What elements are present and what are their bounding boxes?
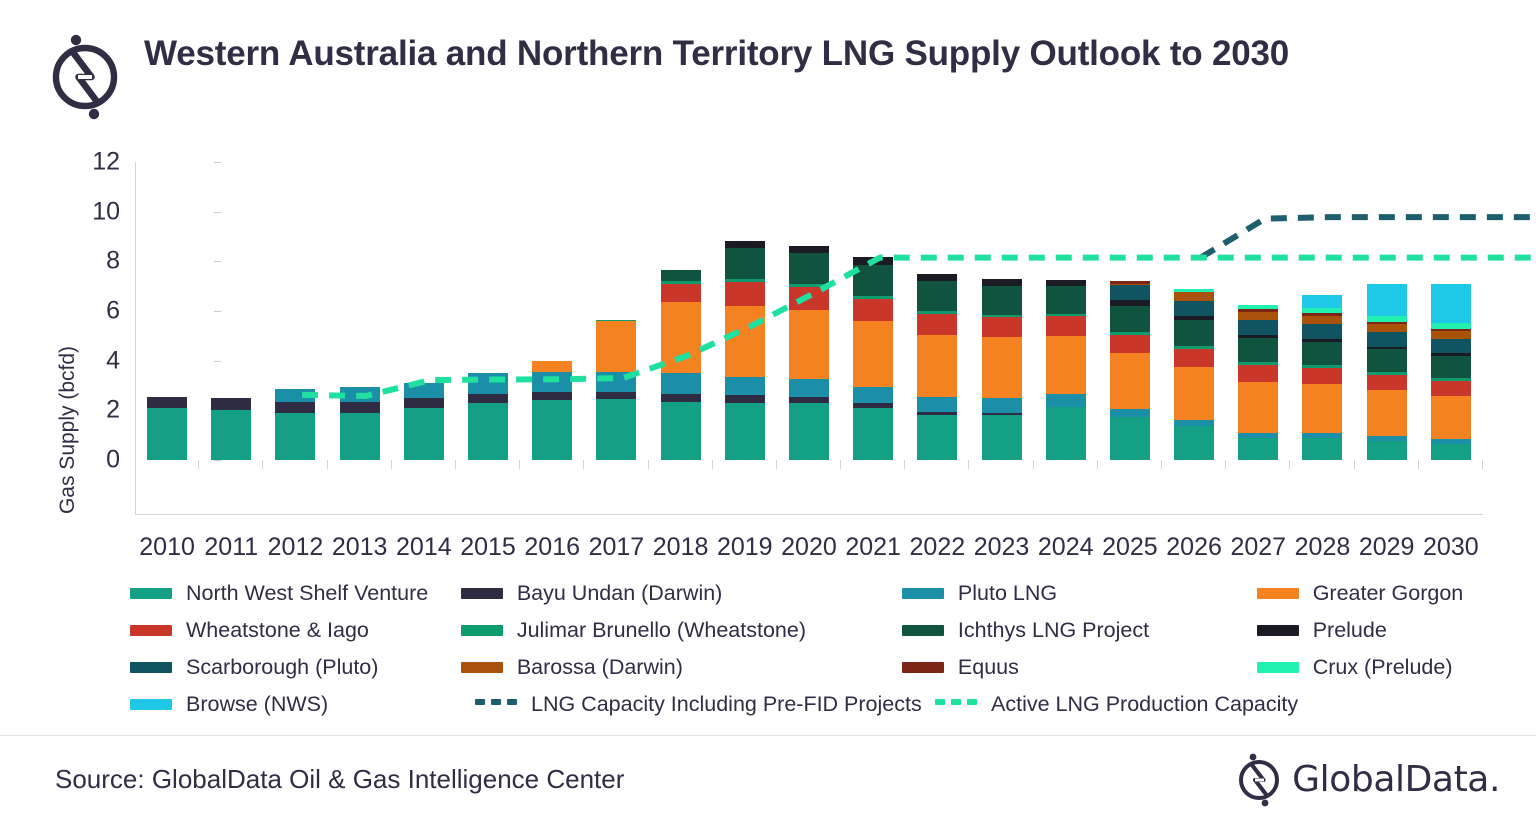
bar-segment[interactable]	[661, 402, 701, 460]
y-tick-label: 6	[106, 297, 120, 326]
bar-stack[interactable]	[532, 361, 572, 460]
bar-segment[interactable]	[340, 413, 380, 460]
bar-segment[interactable]	[404, 398, 444, 408]
bar-segment[interactable]	[725, 395, 765, 402]
bar-segment[interactable]	[1431, 381, 1471, 396]
legend-color-swatch	[130, 588, 172, 599]
x-axis-labels: 2010201120122013201420152016201720182019…	[135, 533, 1483, 562]
x-axis-label-2012: 2012	[263, 533, 327, 562]
bar-segment[interactable]	[1110, 409, 1150, 416]
bar-segment[interactable]	[1238, 365, 1278, 382]
legend-label: North West Shelf Venture	[186, 581, 428, 606]
bar-column-2030[interactable]	[1419, 150, 1483, 515]
legend-label: LNG Capacity Including Pre-FID Projects	[531, 692, 922, 717]
bar-segment[interactable]	[1367, 324, 1407, 332]
bar-segment[interactable]	[1367, 349, 1407, 372]
legend-row: North West Shelf VentureBayu Undan (Darw…	[130, 575, 1506, 612]
bar-segment[interactable]	[340, 387, 380, 402]
bar-segment[interactable]	[853, 299, 893, 321]
bar-column-2012[interactable]	[263, 150, 327, 515]
bar-column-2029[interactable]	[1355, 150, 1419, 515]
bar-segment[interactable]	[468, 403, 508, 460]
bar-segment[interactable]	[468, 394, 508, 403]
bar-segment[interactable]	[1174, 301, 1214, 316]
globaldata-circle-bolt-icon	[1236, 753, 1282, 807]
chart-footer: Source: GlobalData Oil & Gas Intelligenc…	[0, 736, 1536, 823]
bar-segment[interactable]	[1431, 396, 1471, 439]
bar-stack[interactable]	[917, 274, 957, 460]
bar-segment[interactable]	[596, 392, 636, 399]
bar-stack[interactable]	[853, 257, 893, 460]
bar-segment[interactable]	[853, 387, 893, 403]
x-axis-label-2017: 2017	[584, 533, 648, 562]
chart-header: Western Australia and Northern Territory…	[0, 0, 1536, 150]
bar-segment[interactable]	[1302, 438, 1342, 460]
legend-color-swatch	[1257, 588, 1299, 599]
bar-segment[interactable]	[1431, 356, 1471, 378]
bar-column-2017[interactable]	[584, 150, 648, 515]
bar-stack[interactable]	[468, 373, 508, 460]
legend-color-swatch	[461, 625, 503, 636]
legend-dash-swatch	[475, 699, 517, 710]
legend-item[interactable]: Active LNG Production Capacity	[935, 692, 1305, 717]
y-tick-label: 10	[92, 197, 120, 226]
legend-label: Prelude	[1313, 618, 1387, 643]
x-axis-label-2029: 2029	[1355, 533, 1419, 562]
bar-segment[interactable]	[1367, 390, 1407, 436]
bar-stack[interactable]	[1431, 284, 1471, 460]
bar-segment[interactable]	[853, 265, 893, 296]
legend-color-swatch	[130, 625, 172, 636]
bar-column-2022[interactable]	[905, 150, 969, 515]
bar-column-2011[interactable]	[199, 150, 263, 515]
y-axis-label: Gas Supply (bcfd)	[48, 300, 88, 560]
legend-label: Scarborough (Pluto)	[186, 655, 378, 680]
bar-segment[interactable]	[147, 408, 187, 460]
bar-segment[interactable]	[1174, 426, 1214, 460]
legend-item[interactable]: Julimar Brunello (Wheatstone)	[461, 618, 902, 643]
legend-item[interactable]: North West Shelf Venture	[130, 581, 461, 606]
bar-segment[interactable]	[917, 314, 957, 335]
bar-segment[interactable]	[789, 253, 829, 284]
x-axis-label-2026: 2026	[1162, 533, 1226, 562]
bar-segment[interactable]	[661, 302, 701, 373]
bar-column-2018[interactable]	[649, 150, 713, 515]
bar-column-2027[interactable]	[1226, 150, 1290, 515]
legend-label: Active LNG Production Capacity	[991, 692, 1298, 717]
bar-segment[interactable]	[1367, 375, 1407, 390]
legend-item[interactable]: Wheatstone & Iago	[130, 618, 461, 643]
x-axis-label-2014: 2014	[392, 533, 456, 562]
bar-segment[interactable]	[147, 397, 187, 408]
bar-segment[interactable]	[1302, 368, 1342, 384]
bar-column-2021[interactable]	[841, 150, 905, 515]
bar-segment[interactable]	[596, 399, 636, 460]
legend-label: Ichthys LNG Project	[958, 618, 1149, 643]
source-text: Source: GlobalData Oil & Gas Intelligenc…	[55, 764, 624, 795]
legend-color-swatch	[902, 662, 944, 673]
bar-segment[interactable]	[1431, 339, 1471, 353]
x-axis-label-2011: 2011	[199, 533, 263, 562]
bar-segment[interactable]	[853, 408, 893, 460]
bar-segment[interactable]	[596, 321, 636, 372]
legend-color-swatch	[130, 662, 172, 673]
chart-legend: North West Shelf VentureBayu Undan (Darw…	[0, 575, 1536, 723]
bar-segment[interactable]	[211, 410, 251, 460]
bar-segment[interactable]	[404, 383, 444, 398]
legend-row: Browse (NWS)LNG Capacity Including Pre-F…	[130, 686, 1506, 723]
bar-stack[interactable]	[982, 279, 1022, 460]
bar-segment[interactable]	[1110, 335, 1150, 354]
x-axis-label-2021: 2021	[841, 533, 905, 562]
x-axis-label-2018: 2018	[649, 533, 713, 562]
x-axis-line	[135, 514, 1483, 515]
legend-label: Crux (Prelude)	[1313, 655, 1453, 680]
legend-row: Scarborough (Pluto)Barossa (Darwin)Equus…	[130, 649, 1506, 686]
bar-segment[interactable]	[917, 397, 957, 412]
bar-segment[interactable]	[468, 373, 508, 394]
legend-label: Bayu Undan (Darwin)	[517, 581, 723, 606]
bar-column-2028[interactable]	[1290, 150, 1354, 515]
x-axis-label-2016: 2016	[520, 533, 584, 562]
bar-column-2026[interactable]	[1162, 150, 1226, 515]
bar-stack[interactable]	[275, 389, 315, 460]
bar-segment[interactable]	[1174, 320, 1214, 345]
bar-segment[interactable]	[1238, 312, 1278, 320]
chart-page: Western Australia and Northern Territory…	[0, 0, 1536, 823]
x-axis-label-2010: 2010	[135, 533, 199, 562]
bar-column-2015[interactable]	[456, 150, 520, 515]
globaldata-logo: GlobalData.	[1236, 753, 1500, 807]
x-axis-label-2019: 2019	[713, 533, 777, 562]
bar-segment[interactable]	[1238, 320, 1278, 335]
bar-segment[interactable]	[1046, 394, 1086, 406]
bar-segment[interactable]	[1046, 407, 1086, 460]
legend-color-swatch	[1257, 625, 1299, 636]
bar-segment[interactable]	[661, 270, 701, 281]
bar-segment[interactable]	[1110, 285, 1150, 300]
bar-segment[interactable]	[532, 400, 572, 460]
legend-label: Pluto LNG	[958, 581, 1057, 606]
legend-dash-swatch	[935, 699, 977, 710]
x-axis-label-2028: 2028	[1290, 533, 1354, 562]
bar-segment[interactable]	[917, 281, 957, 311]
bar-segment[interactable]	[982, 337, 1022, 398]
bar-segment[interactable]	[275, 402, 315, 413]
legend-row: Wheatstone & IagoJulimar Brunello (Wheat…	[130, 612, 1506, 649]
legend-label: Julimar Brunello (Wheatstone)	[517, 618, 806, 643]
legend-color-swatch	[902, 625, 944, 636]
legend-color-swatch	[461, 588, 503, 599]
bar-segment[interactable]	[340, 402, 380, 413]
y-tick-label: 12	[92, 148, 120, 177]
bar-stack[interactable]	[147, 397, 187, 460]
bar-segment[interactable]	[917, 335, 957, 397]
bar-segment[interactable]	[789, 403, 829, 460]
bar-segment[interactable]	[661, 373, 701, 394]
legend-item[interactable]: Bayu Undan (Darwin)	[461, 581, 902, 606]
bar-column-2023[interactable]	[969, 150, 1033, 515]
legend-item[interactable]: Crux (Prelude)	[1257, 655, 1506, 680]
x-axis-label-2027: 2027	[1226, 533, 1290, 562]
legend-item[interactable]: Pluto LNG	[902, 581, 1257, 606]
bar-segment[interactable]	[1367, 332, 1407, 346]
legend-item[interactable]: Scarborough (Pluto)	[130, 655, 461, 680]
bar-segment[interactable]	[917, 274, 957, 281]
bar-segment[interactable]	[853, 257, 893, 264]
x-axis-label-2020: 2020	[777, 533, 841, 562]
x-axis-label-2023: 2023	[969, 533, 1033, 562]
bar-segment[interactable]	[1238, 438, 1278, 460]
y-axis-ticks: 024681012	[86, 150, 128, 570]
bar-column-2019[interactable]	[713, 150, 777, 515]
legend-color-swatch	[130, 699, 172, 710]
legend-label: Wheatstone & Iago	[186, 618, 369, 643]
bar-segment[interactable]	[789, 379, 829, 396]
page-title: Western Australia and Northern Territory…	[144, 30, 1289, 75]
bar-segment[interactable]	[917, 415, 957, 460]
bar-segment[interactable]	[982, 398, 1022, 413]
legend-color-swatch	[1257, 662, 1299, 673]
bar-stack[interactable]	[661, 270, 701, 460]
bar-stack[interactable]	[789, 246, 829, 460]
bar-segment[interactable]	[725, 403, 765, 460]
bar-stack[interactable]	[1302, 295, 1342, 460]
bar-segment[interactable]	[1367, 441, 1407, 460]
legend-label: Equus	[958, 655, 1019, 680]
bar-segment[interactable]	[596, 372, 636, 392]
bar-segment[interactable]	[789, 246, 829, 253]
bar-segment[interactable]	[1110, 353, 1150, 409]
bar-segment[interactable]	[1174, 349, 1214, 367]
y-tick-label: 2	[106, 396, 120, 425]
bar-segment[interactable]	[1302, 342, 1342, 366]
bar-segment[interactable]	[1431, 331, 1471, 339]
bar-segment[interactable]	[532, 392, 572, 401]
bar-segment[interactable]	[211, 398, 251, 410]
x-tick-mark	[1482, 460, 1483, 469]
bar-segment[interactable]	[1431, 444, 1471, 460]
y-tick-label: 0	[106, 446, 120, 475]
bar-segment[interactable]	[982, 317, 1022, 337]
bar-stack[interactable]	[1367, 284, 1407, 460]
bar-segment[interactable]	[1046, 336, 1086, 394]
legend-item[interactable]: Barossa (Darwin)	[461, 655, 902, 680]
bar-segment[interactable]	[725, 282, 765, 306]
bar-column-2016[interactable]	[520, 150, 584, 515]
bar-segment[interactable]	[982, 415, 1022, 460]
bar-stack[interactable]	[404, 383, 444, 460]
legend-item[interactable]: Ichthys LNG Project	[902, 618, 1257, 643]
bar-segment[interactable]	[1238, 382, 1278, 433]
bar-stack[interactable]	[340, 387, 380, 460]
bar-segment[interactable]	[275, 413, 315, 460]
legend-item[interactable]: Browse (NWS)	[130, 692, 475, 717]
bar-segment[interactable]	[1302, 295, 1342, 307]
bar-segment[interactable]	[1110, 306, 1150, 332]
bar-stack[interactable]	[1110, 281, 1150, 460]
legend-label: Browse (NWS)	[186, 692, 328, 717]
x-axis-label-2015: 2015	[456, 533, 520, 562]
bar-segment[interactable]	[1174, 292, 1214, 301]
bar-segment[interactable]	[725, 377, 765, 396]
bar-segment[interactable]	[661, 394, 701, 401]
bar-segment[interactable]	[1367, 284, 1407, 316]
bar-stack[interactable]	[1046, 280, 1086, 460]
x-axis-label-2025: 2025	[1098, 533, 1162, 562]
bar-segment[interactable]	[725, 241, 765, 248]
legend-label: Greater Gorgon	[1313, 581, 1464, 606]
bar-segment[interactable]	[1046, 316, 1086, 336]
bar-segment[interactable]	[532, 361, 572, 372]
x-axis-label-2013: 2013	[328, 533, 392, 562]
bar-column-2013[interactable]	[328, 150, 392, 515]
bar-stack[interactable]	[211, 398, 251, 460]
bar-segment[interactable]	[1302, 324, 1342, 339]
bar-segment[interactable]	[1302, 384, 1342, 432]
x-axis-label-2024: 2024	[1034, 533, 1098, 562]
bar-segment[interactable]	[789, 287, 829, 309]
bar-segment[interactable]	[1431, 284, 1471, 322]
legend-item[interactable]: Greater Gorgon	[1257, 581, 1506, 606]
y-tick-label: 8	[106, 247, 120, 276]
bar-segment[interactable]	[789, 310, 829, 380]
bar-stack[interactable]	[1238, 305, 1278, 460]
bar-segment[interactable]	[725, 248, 765, 279]
legend-label: Barossa (Darwin)	[517, 655, 683, 680]
legend-item[interactable]: LNG Capacity Including Pre-FID Projects	[475, 692, 935, 717]
bar-segment[interactable]	[1302, 316, 1342, 324]
bar-column-2020[interactable]	[777, 150, 841, 515]
bar-column-2014[interactable]	[392, 150, 456, 515]
legend-color-swatch	[902, 588, 944, 599]
y-tick-label: 4	[106, 346, 120, 375]
bar-segment[interactable]	[404, 408, 444, 460]
bar-segment[interactable]	[982, 279, 1022, 286]
x-axis-label-2022: 2022	[905, 533, 969, 562]
chart-axes	[135, 150, 1483, 570]
bar-segment[interactable]	[1046, 286, 1086, 313]
bar-segment[interactable]	[982, 286, 1022, 315]
chart-plot-area: Gas Supply (bcfd) 024681012 201020112012…	[0, 150, 1536, 570]
bar-column-2010[interactable]	[135, 150, 199, 515]
bar-segment[interactable]	[661, 284, 701, 303]
legend-item[interactable]: Equus	[902, 655, 1257, 680]
bar-segment[interactable]	[1238, 338, 1278, 362]
bar-stack[interactable]	[1174, 289, 1214, 460]
bar-stack[interactable]	[596, 320, 636, 460]
bar-column-2024[interactable]	[1034, 150, 1098, 515]
x-axis-label-2030: 2030	[1419, 533, 1483, 562]
bar-segment[interactable]	[1174, 367, 1214, 420]
bar-column-2025[interactable]	[1098, 150, 1162, 515]
bar-segment[interactable]	[853, 321, 893, 387]
bar-segment[interactable]	[275, 389, 315, 401]
bar-segment[interactable]	[532, 372, 572, 392]
bar-segment[interactable]	[1110, 417, 1150, 460]
bar-series-group	[135, 150, 1483, 515]
bar-stack[interactable]	[725, 241, 765, 460]
legend-item[interactable]: Prelude	[1257, 618, 1506, 643]
globaldata-wordmark: GlobalData.	[1292, 759, 1500, 800]
bar-segment[interactable]	[725, 306, 765, 377]
globaldata-circle-bolt-icon	[48, 34, 122, 120]
legend-color-swatch	[461, 662, 503, 673]
